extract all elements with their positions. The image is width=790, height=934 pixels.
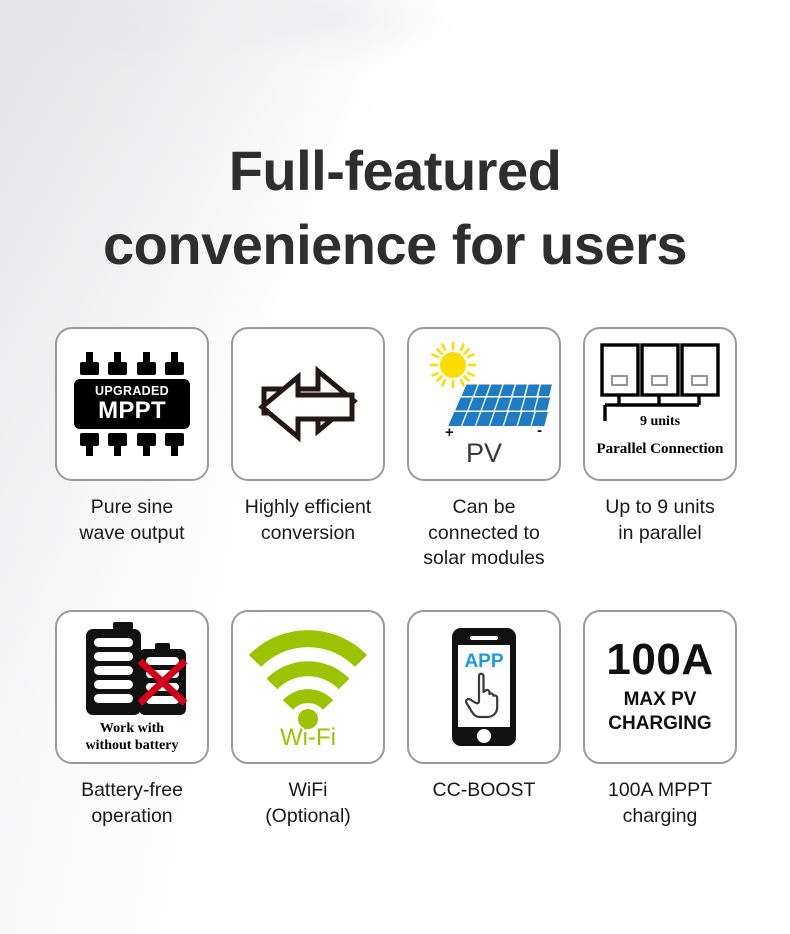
caption-line: Battery-free: [55, 778, 209, 804]
chip-pins-top: [80, 352, 184, 375]
caption-line: WiFi: [231, 778, 385, 804]
chip-body: UPGRADED MPPT: [74, 379, 190, 429]
amp-value: 100A: [606, 638, 713, 682]
caption-line: Highly efficient: [231, 495, 385, 521]
caption-line: CC-BOOST: [407, 778, 561, 804]
feature-card-highly-efficient: Highly efficient conversion: [231, 327, 385, 572]
max-pv-charging-icon: 100A MAX PV CHARGING: [585, 612, 735, 762]
phone-speaker: [470, 636, 498, 640]
caption-line: Can be: [407, 495, 561, 521]
mppt-chip-icon: UPGRADED MPPT: [74, 352, 190, 456]
pv-terminal-positive: +: [445, 424, 454, 441]
feature-card-battery-free: Work with without battery Battery-free o…: [55, 610, 209, 829]
feature-caption: CC-BOOST: [407, 778, 561, 804]
caption-line: Pure sine: [55, 495, 209, 521]
feature-caption: WiFi (Optional): [231, 778, 385, 829]
caption-line: in parallel: [583, 521, 737, 547]
feature-caption: Pure sine wave output: [55, 495, 209, 546]
row-spacer: [55, 572, 737, 610]
feature-card-mppt-charging: 100A MAX PV CHARGING 100A MPPT charging: [583, 610, 737, 829]
feature-card-pure-sine-wave: UPGRADED MPPT Pure sine wave output: [55, 327, 209, 572]
battery-caption-line: without battery: [57, 737, 207, 754]
parallel-units-label: 9 units: [585, 414, 735, 430]
chip-label-upgraded: UPGRADED: [95, 385, 169, 398]
feature-tile-max-pv-charging: 100A MAX PV CHARGING: [583, 610, 737, 764]
caption-line: connected to: [407, 521, 561, 547]
headline-line-2: convenience for users: [0, 208, 790, 282]
phone-app-icon: APP: [409, 612, 559, 762]
caption-line: (Optional): [231, 804, 385, 830]
phone-home-button: [477, 729, 491, 743]
feature-tile-pv: + - PV: [407, 327, 561, 481]
feature-grid: UPGRADED MPPT Pure sine wave output: [55, 327, 737, 830]
feature-caption: Battery-free operation: [55, 778, 209, 829]
feature-tile-phone-app: APP: [407, 610, 561, 764]
caption-line: operation: [55, 804, 209, 830]
battery-caption-line: Work with: [57, 720, 207, 737]
page-title: Full-featured convenience for users: [0, 134, 790, 283]
pv-label: PV: [409, 440, 559, 467]
app-label: APP: [464, 651, 503, 672]
feature-card-solar-modules: + - PV Can be connected to solar modules: [407, 327, 561, 572]
amp-sub-1: MAX PV: [624, 688, 697, 712]
headline-line-1: Full-featured: [229, 139, 562, 202]
conversion-arrows-icon: [248, 349, 368, 459]
feature-caption: Up to 9 units in parallel: [583, 495, 737, 546]
caption-line: conversion: [231, 521, 385, 547]
chip-pins-bottom: [80, 433, 184, 456]
feature-caption: Highly efficient conversion: [231, 495, 385, 546]
caption-line: 100A MPPT: [583, 778, 737, 804]
solar-panel-grid: [448, 385, 552, 427]
chip-label-mppt: MPPT: [98, 398, 166, 423]
feature-caption: Can be connected to solar modules: [407, 495, 561, 572]
caption-line: Up to 9 units: [583, 495, 737, 521]
battery-large: [86, 622, 141, 715]
caption-line: charging: [583, 804, 737, 830]
pv-terminal-negative: -: [537, 422, 542, 439]
parallel-connection-label: Parallel Connection: [585, 441, 735, 458]
sun-icon: [431, 343, 475, 387]
caption-line: wave output: [55, 521, 209, 547]
feature-card-parallel-units: 9 units Parallel Connection Up to 9 unit…: [583, 327, 737, 572]
feature-card-wifi: Wi-Fi WiFi (Optional): [231, 610, 385, 829]
caption-line: solar modules: [407, 546, 561, 572]
feature-card-cc-boost: APP CC-BOOST: [407, 610, 561, 829]
feature-tile-battery: Work with without battery: [55, 610, 209, 764]
feature-tile-conversion: [231, 327, 385, 481]
amp-sub-2: CHARGING: [608, 712, 711, 736]
feature-infographic: Full-featured convenience for users UPGR…: [0, 0, 790, 934]
battery-caption: Work with without battery: [57, 720, 207, 754]
wifi-label: Wi-Fi: [233, 726, 383, 750]
feature-caption: 100A MPPT charging: [583, 778, 737, 829]
feature-tile-wifi: Wi-Fi: [231, 610, 385, 764]
battery-small: [139, 643, 186, 715]
feature-tile-parallel: 9 units Parallel Connection: [583, 327, 737, 481]
feature-tile-mppt-chip: UPGRADED MPPT: [55, 327, 209, 481]
